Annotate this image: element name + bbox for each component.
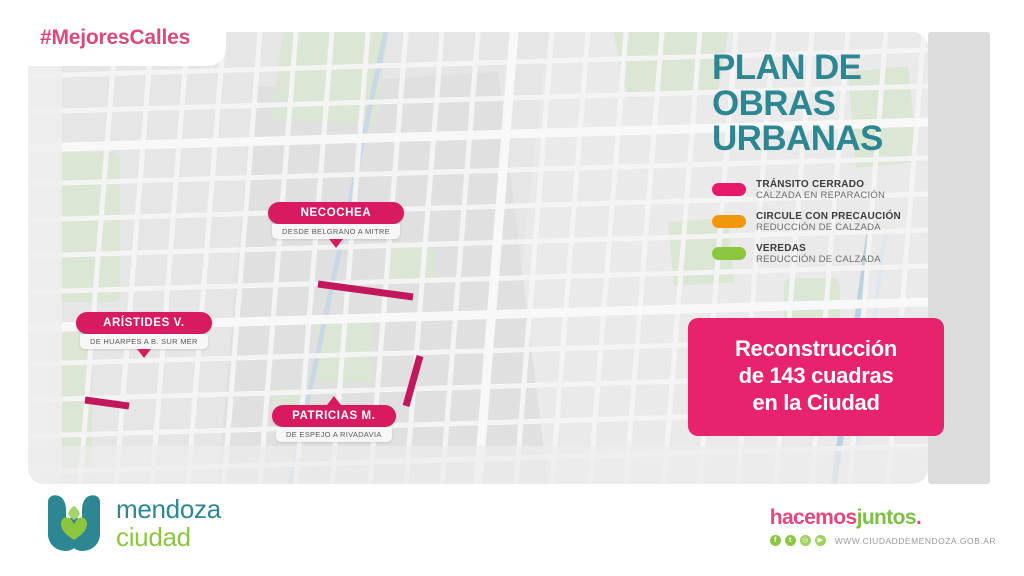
footer-links-row: f t ◎ ▶ WWW.CIUDADDEMENDOZA.GOB.AR [770,535,996,546]
brand-part-hacemos: hacemos [770,506,857,529]
title-line-3: URBANAS [712,121,932,157]
twitter-icon[interactable]: t [785,535,796,546]
info-column: PLAN DE OBRAS URBANAS TRÁNSITO CERRADO C… [712,50,932,275]
map-marker-necochea[interactable]: NECOCHEA DESDE BELGRANO A MITRE [268,202,404,248]
mendoza-ciudad-logo[interactable]: mendoza ciudad [44,494,221,552]
map-legend: TRÁNSITO CERRADO CALZADA EN REPARACIÓN C… [712,179,932,265]
logo-line-mendoza: mendoza [116,496,221,522]
marker-title: ARÍSTIDES V. [76,312,212,334]
legend-subtitle: CALZADA EN REPARACIÓN [756,191,885,202]
facebook-icon[interactable]: f [770,535,781,546]
cta-line-2: de 143 cuadras [702,363,930,390]
cta-line-1: Reconstrucción [702,336,930,363]
logo-wordmark: mendoza ciudad [116,496,221,550]
marker-title: NECOCHEA [268,202,404,224]
brand-wordmark: hacemosjuntos. [770,506,996,530]
campaign-hashtag: #MejoresCalles [40,26,190,50]
legend-title: CIRCULE CON PRECAUCIÓN [756,211,901,222]
instagram-icon[interactable]: ◎ [800,535,811,546]
legend-subtitle: REDUCCIÓN DE CALZADA [756,223,901,234]
title-line-2: OBRAS [712,86,932,122]
marker-range: DESDE BELGRANO A MITRE [272,224,400,239]
poster-canvas: #MejoresCalles [0,0,1024,576]
map-marker-aristides[interactable]: ARÍSTIDES V. DE HUARPES A B. SUR MER [76,312,212,358]
pill-swatch-icon [712,215,746,228]
pill-swatch-icon [712,183,746,196]
cta-banner: Reconstrucción de 143 cuadras en la Ciud… [688,318,944,436]
cta-text: Reconstrucción de 143 cuadras en la Ciud… [702,336,930,416]
map-marker-patricias[interactable]: PATRICIAS M. DE ESPEJO A RIVADAVIA [272,396,396,442]
marker-pointer-icon [137,349,151,358]
legend-item-transito-cerrado: TRÁNSITO CERRADO CALZADA EN REPARACIÓN [712,179,932,202]
marker-range: DE HUARPES A B. SUR MER [80,334,208,349]
logo-line-ciudad: ciudad [116,524,221,550]
legend-item-veredas: VEREDAS REDUCCIÓN DE CALZADA [712,243,932,266]
youtube-icon[interactable]: ▶ [815,535,826,546]
marker-range: DE ESPEJO A RIVADAVIA [276,427,392,442]
marker-pointer-icon [329,239,343,248]
marker-pointer-icon [327,396,341,405]
cta-line-3: en la Ciudad [702,390,930,417]
mendoza-ciudad-logo-icon [44,494,104,552]
legend-subtitle: REDUCCIÓN DE CALZADA [756,255,881,266]
legend-title: VEREDAS [756,243,881,254]
legend-item-circule-con-precaucion: CIRCULE CON PRECAUCIÓN REDUCCIÓN DE CALZ… [712,211,932,234]
brand-part-dot: . [916,506,921,529]
hacemos-juntos-brand[interactable]: hacemosjuntos. f t ◎ ▶ WWW.CIUDADDEMENDO… [770,506,996,546]
website-url[interactable]: WWW.CIUDADDEMENDOZA.GOB.AR [835,536,996,546]
brand-part-juntos: juntos [857,506,916,529]
page-title: PLAN DE OBRAS URBANAS [712,50,932,157]
pill-swatch-icon [712,247,746,260]
title-line-1: PLAN DE [712,50,932,86]
marker-title: PATRICIAS M. [272,405,396,427]
legend-title: TRÁNSITO CERRADO [756,179,885,190]
